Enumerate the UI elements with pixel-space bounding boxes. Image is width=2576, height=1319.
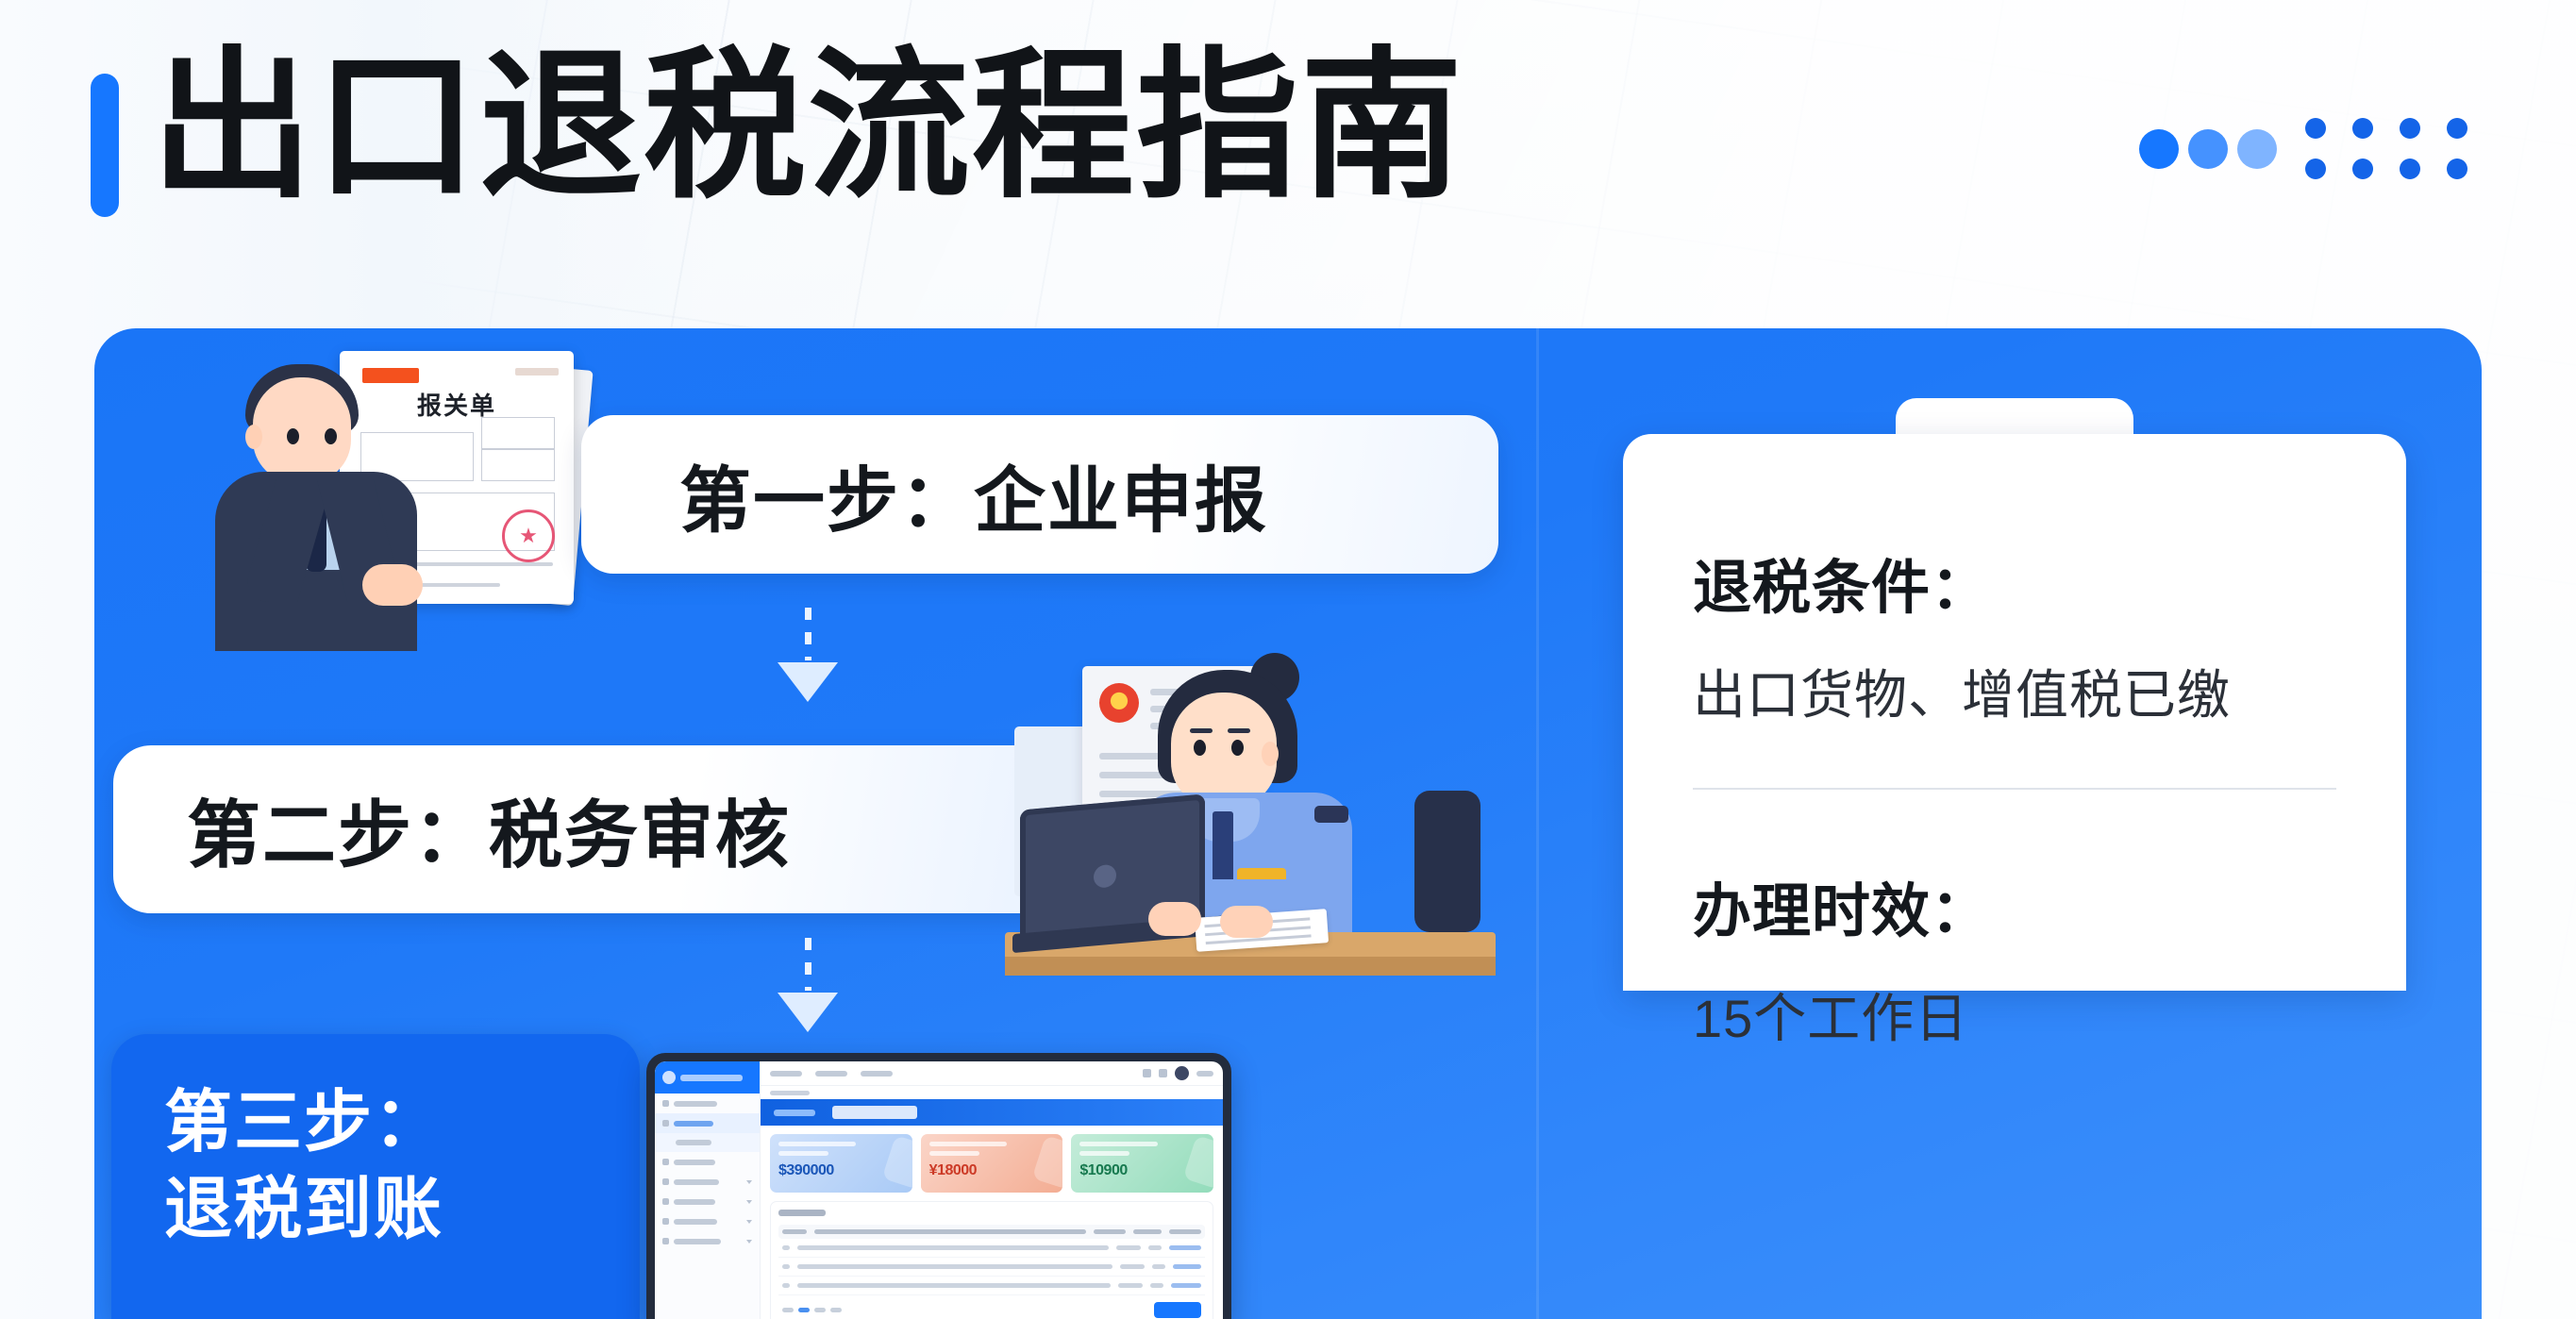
info-body-conditions: 出口货物、增值税已缴 (1693, 653, 2336, 729)
decorative-dot-icon (2400, 159, 2420, 179)
decorative-dot-icon (2447, 159, 2467, 179)
decorative-circle-icon (2139, 129, 2179, 169)
sidebar-item-active[interactable] (655, 1113, 760, 1133)
dashboard-table (770, 1201, 1213, 1319)
chevron-down-icon (746, 1240, 752, 1244)
user-name-placeholder (1196, 1071, 1213, 1077)
info-heading-processing-time: 办理时效： (1693, 863, 2336, 948)
info-section-processing-time: 办理时效： 15个工作日 (1693, 863, 2336, 1053)
officer-hand-right (1220, 906, 1273, 938)
sidebar-item[interactable] (655, 1152, 760, 1172)
dashboard-breadcrumb (761, 1086, 1223, 1099)
menu-icon (662, 1120, 669, 1127)
decorative-circle-icon (2237, 129, 2277, 169)
table-row[interactable] (778, 1277, 1205, 1295)
process-flow: 报关单 ★ 第一步：企业申报 (94, 328, 1538, 1319)
menu-icon (662, 1238, 669, 1244)
dashboard-main: $390000 ¥18000 $10900 (761, 1061, 1223, 1319)
topbar-actions (1143, 1066, 1213, 1080)
menu-icon (662, 1218, 669, 1225)
flow-step-1-label: 第一步：企业申报 (679, 442, 1268, 546)
menu-icon (662, 1100, 669, 1107)
flow-step-3-card[interactable]: 第三步： 退税到账 (111, 1034, 640, 1319)
flow-step-2-label: 第二步：税务审核 (187, 776, 791, 882)
menu-icon (662, 1178, 669, 1185)
pagination-item[interactable] (814, 1308, 826, 1312)
arrow-down-icon (778, 662, 838, 702)
search-icon[interactable] (1143, 1069, 1151, 1077)
dashboard-banner (761, 1099, 1223, 1126)
pagination-item[interactable] (782, 1308, 794, 1312)
office-chair (1414, 791, 1480, 932)
sidebar-item[interactable] (655, 1094, 760, 1113)
officer-hand-left (1148, 902, 1201, 936)
decorative-dot-icon (2305, 118, 2326, 139)
info-card-body: 退税条件： 出口货物、增值税已缴 办理时效： 15个工作日 (1623, 434, 2406, 991)
decorative-dot-grid (2305, 118, 2467, 179)
flow-step-1-card[interactable]: 第一步：企业申报 (581, 415, 1498, 574)
red-seal-stamp: ★ (502, 509, 555, 562)
pagination-item-active[interactable] (798, 1308, 810, 1312)
avatar[interactable] (1175, 1066, 1189, 1080)
person-eye (287, 428, 299, 444)
info-divider (1693, 788, 2336, 790)
dashed-line (805, 938, 811, 991)
table-title-placeholder (778, 1210, 826, 1216)
table-header-row (778, 1225, 1205, 1239)
sidebar-item[interactable] (655, 1192, 760, 1211)
decorative-circle-icon (2188, 129, 2228, 169)
dashboard-sidebar (655, 1061, 761, 1319)
kpi-card: $390000 (770, 1134, 912, 1193)
table-row[interactable] (778, 1258, 1205, 1277)
dashed-line (805, 608, 811, 660)
pagination-item[interactable] (830, 1308, 842, 1312)
officer-tie (1213, 811, 1233, 889)
officer-head (1171, 693, 1277, 808)
flow-connector-arrow-2 (779, 938, 836, 1032)
arrow-down-icon (778, 993, 838, 1032)
desk-front (1005, 957, 1496, 976)
decorative-dot-icon (2352, 159, 2373, 179)
decorative-dot-icon (2400, 118, 2420, 139)
person-eye (325, 428, 337, 444)
menu-icon (662, 1159, 669, 1165)
sidebar-item[interactable] (655, 1211, 760, 1231)
officer-eye (1231, 740, 1244, 756)
kpi-card: ¥18000 (921, 1134, 1063, 1193)
officer-ear (1262, 742, 1279, 766)
refund-dashboard-mockup: $390000 ¥18000 $10900 (646, 1053, 1231, 1319)
primary-action-button[interactable] (1154, 1302, 1201, 1318)
flow-step-3-label-line1: 第三步： (164, 1079, 640, 1166)
chevron-down-icon (746, 1220, 752, 1224)
top-nav-item[interactable] (861, 1071, 893, 1077)
content-stage: 报关单 ★ 第一步：企业申报 (94, 328, 2482, 1319)
document-red-bar (362, 368, 419, 383)
chevron-down-icon (746, 1180, 752, 1184)
chevron-down-icon (746, 1200, 752, 1204)
officer-eye (1194, 740, 1206, 756)
person-hand (362, 564, 423, 606)
brand-name-placeholder (680, 1075, 743, 1081)
top-nav-item[interactable] (815, 1071, 847, 1077)
page-title: 出口退税流程指南 (151, 45, 1464, 208)
info-section-conditions: 退税条件： 出口货物、增值税已缴 (1693, 540, 2336, 729)
info-heading-conditions: 退税条件： (1693, 540, 2336, 625)
dashboard-topbar (761, 1061, 1223, 1086)
kpi-card: $10900 (1071, 1134, 1213, 1193)
info-body-processing-time: 15个工作日 (1693, 977, 2336, 1053)
title-accent-bar (91, 74, 119, 217)
tax-officer-illustration (1014, 649, 1486, 1027)
businessman-declaration-illustration: 报关单 ★ (219, 338, 615, 640)
sidebar-subitem[interactable] (655, 1133, 760, 1152)
brand-logo-icon (662, 1071, 676, 1084)
dashboard-kpi-row: $390000 ¥18000 $10900 (761, 1126, 1223, 1193)
officer-eyebrow (1190, 728, 1213, 733)
sidebar-item[interactable] (655, 1231, 760, 1251)
banner-text-placeholder (774, 1110, 815, 1116)
info-clipboard-card: 退税条件： 出口货物、增值税已缴 办理时效： 15个工作日 (1623, 434, 2406, 991)
table-row[interactable] (778, 1239, 1205, 1258)
dashboard-screen: $390000 ¥18000 $10900 (655, 1061, 1223, 1319)
person-head (253, 377, 351, 483)
banner-headline-placeholder (832, 1106, 917, 1119)
menu-icon (662, 1198, 669, 1205)
bell-icon[interactable] (1159, 1069, 1167, 1077)
decorative-dot-icon (2352, 118, 2373, 139)
person-ear (245, 425, 262, 449)
national-emblem-icon (1099, 683, 1139, 723)
dashboard-pagination (778, 1302, 1205, 1318)
top-nav-item[interactable] (770, 1071, 802, 1077)
dashboard-brand (655, 1061, 760, 1094)
decorative-dot-icon (2447, 118, 2467, 139)
laptop-logo-icon (1094, 864, 1116, 889)
decorative-circles-group (2139, 129, 2277, 169)
document-grey-bar (515, 368, 559, 376)
flow-connector-arrow-1 (779, 608, 836, 702)
header: 出口退税流程指南 (0, 0, 2576, 328)
flow-step-2-card[interactable]: 第二步：税务审核 (113, 745, 1066, 913)
flow-step-3-label-line2: 退税到账 (164, 1166, 640, 1253)
decorative-dot-icon (2305, 159, 2326, 179)
officer-eyebrow (1228, 728, 1250, 733)
uniform-epaulet (1314, 806, 1348, 823)
header-decoration (2139, 118, 2467, 179)
sidebar-item[interactable] (655, 1172, 760, 1192)
